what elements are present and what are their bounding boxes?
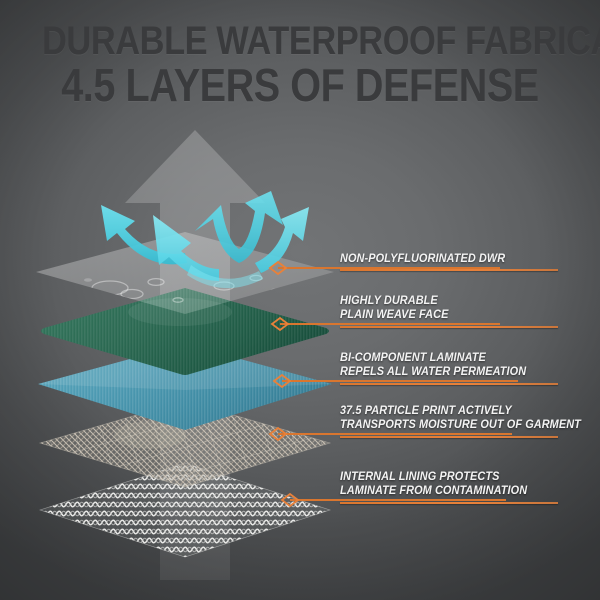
callout-line: TRANSPORTS MOISTURE OUT OF GARMENT <box>340 418 558 432</box>
infographic-canvas: NON-POLYFLUORINATED DWR HIGHLY DURABLE P… <box>0 0 600 600</box>
callout-line: 37.5 PARTICLE PRINT ACTIVELY <box>340 404 558 418</box>
callout-bi-component-laminate: BI-COMPONENT LAMINATE REPELS ALL WATER P… <box>340 351 572 385</box>
callout-line: PLAIN WEAVE FACE <box>340 308 558 322</box>
callout-plain-weave-face: HIGHLY DURABLE PLAIN WEAVE FACE <box>340 294 572 328</box>
callout-line: REPELS ALL WATER PERMEATION <box>340 365 558 379</box>
callout-underline <box>340 383 558 385</box>
callout-line: BI-COMPONENT LAMINATE <box>340 351 558 365</box>
callout-internal-lining: INTERNAL LINING PROTECTS LAMINATE FROM C… <box>340 470 572 504</box>
callout-line: HIGHLY DURABLE <box>340 294 558 308</box>
callout-underline <box>340 269 558 271</box>
callout-underline <box>340 502 558 504</box>
callout-particle-print: 37.5 PARTICLE PRINT ACTIVELY TRANSPORTS … <box>340 404 572 438</box>
callout-line: LAMINATE FROM CONTAMINATION <box>340 484 558 498</box>
page-title: DURABLE WATERPROOF FABRICATION <box>42 22 558 61</box>
callout-non-polyfluorinated-dwr: NON-POLYFLUORINATED DWR <box>340 252 572 271</box>
callout-line: INTERNAL LINING PROTECTS <box>340 470 558 484</box>
page-subtitle: 4.5 LAYERS OF DEFENSE <box>42 63 558 108</box>
callout-underline <box>340 326 558 328</box>
callout-line: NON-POLYFLUORINATED DWR <box>340 252 558 266</box>
callout-underline <box>340 436 558 438</box>
title-block: DURABLE WATERPROOF FABRICATION 4.5 LAYER… <box>0 22 600 107</box>
